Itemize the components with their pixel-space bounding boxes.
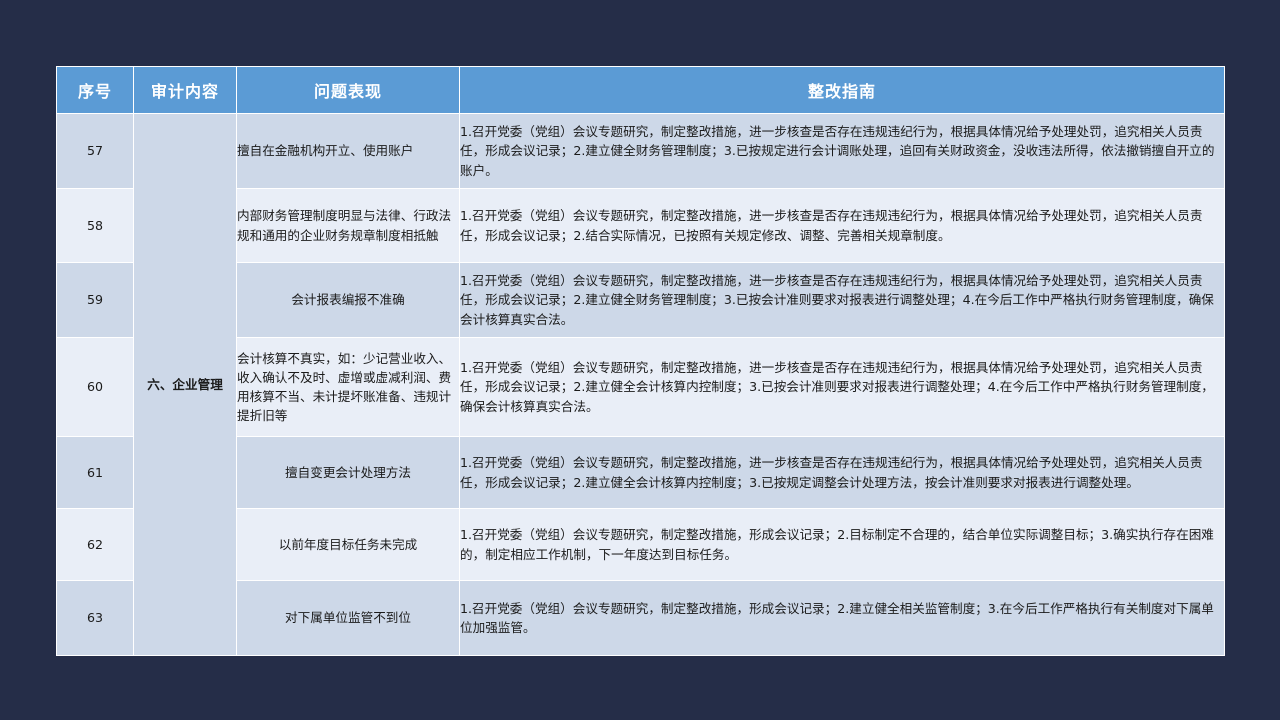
audit-rectification-table: 序号 审计内容 问题表现 整改指南 57六、企业管理擅自在金融机构开立、使用账户… xyxy=(56,66,1225,656)
cell-sequence-number: 60 xyxy=(57,338,134,437)
cell-rectification-guidance: 1.召开党委（党组）会议专题研究，制定整改措施，形成会议记录；2.目标制定不合理… xyxy=(460,509,1225,581)
cell-issue-description: 会计核算不真实，如：少记营业收入、收入确认不及时、虚增或虚减利润、费用核算不当、… xyxy=(237,338,460,437)
cell-issue-description: 对下属单位监管不到位 xyxy=(237,581,460,656)
cell-issue-description: 会计报表编报不准确 xyxy=(237,263,460,338)
cell-issue-description: 擅自变更会计处理方法 xyxy=(237,437,460,509)
cell-sequence-number: 63 xyxy=(57,581,134,656)
cell-rectification-guidance: 1.召开党委（党组）会议专题研究，制定整改措施，进一步核查是否存在违规违纪行为，… xyxy=(460,338,1225,437)
table-header-row: 序号 审计内容 问题表现 整改指南 xyxy=(57,67,1225,114)
column-header-category: 审计内容 xyxy=(134,67,237,114)
cell-rectification-guidance: 1.召开党委（党组）会议专题研究，制定整改措施，形成会议记录；2.建立健全相关监… xyxy=(460,581,1225,656)
slide-canvas: 序号 审计内容 问题表现 整改指南 57六、企业管理擅自在金融机构开立、使用账户… xyxy=(0,0,1280,720)
cell-sequence-number: 58 xyxy=(57,189,134,263)
table-body: 57六、企业管理擅自在金融机构开立、使用账户1.召开党委（党组）会议专题研究，制… xyxy=(57,114,1225,656)
cell-rectification-guidance: 1.召开党委（党组）会议专题研究，制定整改措施，进一步核查是否存在违规违纪行为，… xyxy=(460,437,1225,509)
column-header-guidance: 整改指南 xyxy=(460,67,1225,114)
table-row: 57六、企业管理擅自在金融机构开立、使用账户1.召开党委（党组）会议专题研究，制… xyxy=(57,114,1225,189)
cell-rectification-guidance: 1.召开党委（党组）会议专题研究，制定整改措施，进一步核查是否存在违规违纪行为，… xyxy=(460,263,1225,338)
cell-issue-description: 内部财务管理制度明显与法律、行政法规和通用的企业财务规章制度相抵触 xyxy=(237,189,460,263)
table-header: 序号 审计内容 问题表现 整改指南 xyxy=(57,67,1225,114)
cell-issue-description: 擅自在金融机构开立、使用账户 xyxy=(237,114,460,189)
column-header-seq: 序号 xyxy=(57,67,134,114)
cell-sequence-number: 59 xyxy=(57,263,134,338)
cell-sequence-number: 62 xyxy=(57,509,134,581)
cell-audit-category: 六、企业管理 xyxy=(134,114,237,656)
column-header-issue: 问题表现 xyxy=(237,67,460,114)
cell-rectification-guidance: 1.召开党委（党组）会议专题研究，制定整改措施，进一步核查是否存在违规违纪行为，… xyxy=(460,114,1225,189)
cell-sequence-number: 57 xyxy=(57,114,134,189)
cell-sequence-number: 61 xyxy=(57,437,134,509)
cell-rectification-guidance: 1.召开党委（党组）会议专题研究，制定整改措施，进一步核查是否存在违规违纪行为，… xyxy=(460,189,1225,263)
cell-issue-description: 以前年度目标任务未完成 xyxy=(237,509,460,581)
